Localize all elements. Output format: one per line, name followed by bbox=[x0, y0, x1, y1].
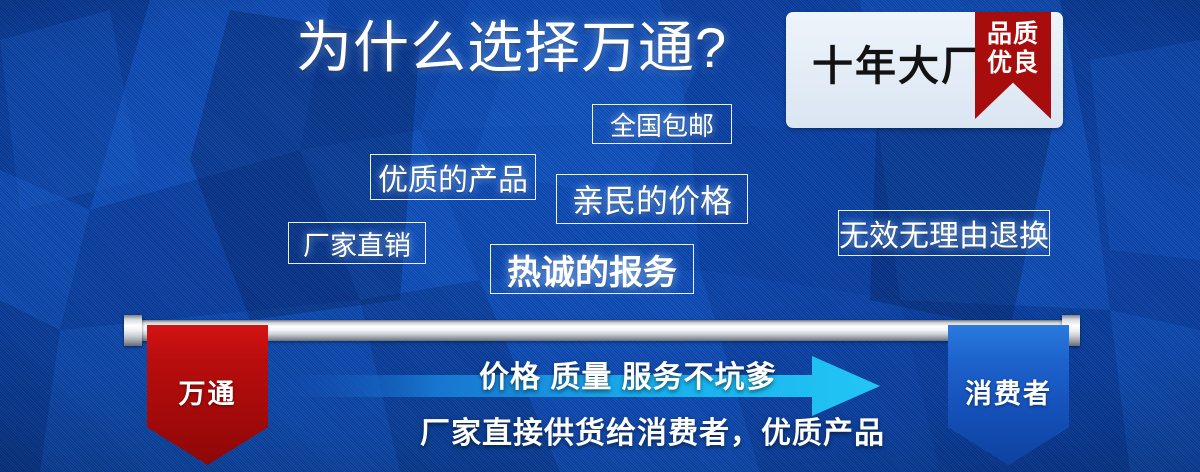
feature-tag-free-return-exchange: 无效无理由退换 bbox=[838, 210, 1050, 256]
feature-tag-sincere-service: 热诚的报务 bbox=[490, 244, 694, 294]
ribbon-line-1: 品质 bbox=[975, 20, 1051, 49]
feature-tag-affordable-price: 亲民的价格 bbox=[556, 174, 748, 224]
promo-banner: 为什么选择万通? 十年大厂 品质 优良 全国包邮 优质的产品 亲民的价格 厂家直… bbox=[0, 0, 1200, 472]
feature-tag-nationwide-free-shipping: 全国包邮 bbox=[592, 104, 732, 144]
ten-year-factory-badge: 十年大厂 品质 优良 bbox=[786, 12, 1063, 128]
pennant-manufacturer-label: 万通 bbox=[179, 372, 237, 411]
badge-main-text: 十年大厂 bbox=[812, 42, 984, 90]
page-title: 为什么选择万通? bbox=[296, 16, 727, 80]
pennant-consumer-label: 消费者 bbox=[965, 372, 1052, 411]
ribbon-line-2: 优良 bbox=[975, 49, 1051, 78]
flow-sub-text: 厂家直接供货给消费者，优质产品 bbox=[420, 408, 885, 452]
rod-cap-left bbox=[124, 315, 142, 346]
feature-tag-factory-direct-sales: 厂家直销 bbox=[288, 222, 426, 264]
flow-headline-text: 价格 质量 服务不坑爹 bbox=[479, 352, 777, 396]
quality-ribbon: 品质 优良 bbox=[975, 12, 1051, 119]
chrome-rod bbox=[131, 320, 1068, 341]
feature-tag-quality-products: 优质的产品 bbox=[370, 154, 536, 200]
